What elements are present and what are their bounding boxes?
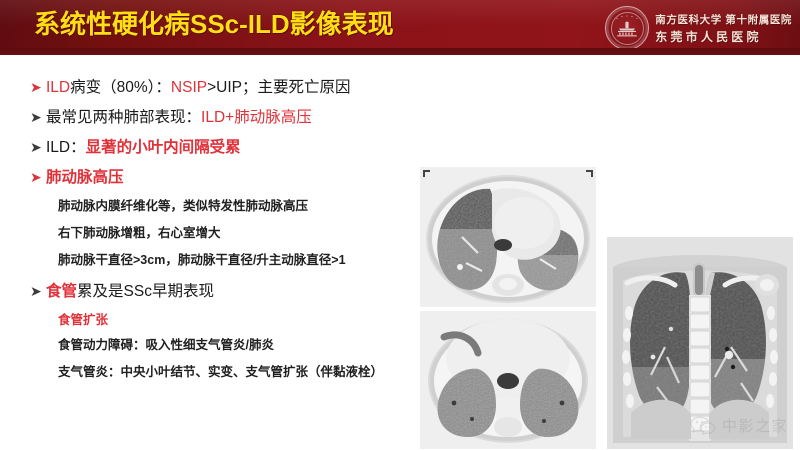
- hospital-logo: 南方医科大学 第十附属医院 东莞市人民医院: [605, 5, 792, 51]
- chest-ct-axial-lower: [420, 311, 596, 449]
- banner-underline: [0, 48, 800, 55]
- seg-uip: >UIP；主要死亡原因: [207, 79, 350, 96]
- watermark-text: 中影之家: [722, 415, 788, 436]
- ct-axial-lower-render: [420, 311, 596, 449]
- bullet-text: 食管累及是SSc早期表现: [46, 281, 214, 302]
- esophagus-subline-1: 食管动力障碍：吸入性细支气管炎/肺炎: [58, 336, 430, 354]
- hospital-name: 东莞市人民医院: [655, 28, 792, 45]
- esophageal-dilation-heading: 食管扩张: [58, 311, 430, 329]
- ct-axial-upper-render: [420, 167, 596, 307]
- seg-septal: 显著的小叶内间隔受累: [86, 139, 241, 156]
- seg-lesion: 病变（80%）：: [70, 79, 171, 96]
- slide-header-banner: 系统性硬化病SSc-ILD影像表现: [0, 0, 800, 55]
- bullet-text: 最常见两种肺部表现：ILD+肺动脉高压: [46, 107, 312, 128]
- esophagus-subline-2: 支气管炎：中央小叶结节、实变、支气管扩张（伴黏液栓）: [58, 363, 430, 381]
- pah-subline-3: 肺动脉干直径>3cm，肺动脉干直径/升主动脉直径>1: [58, 251, 430, 269]
- seg-nsip: NSIP: [171, 79, 207, 96]
- bullet-ild-septal: ➤ ILD：显著的小叶内间隔受累: [30, 137, 430, 158]
- emblem-arc-stars: [612, 14, 642, 21]
- pah-subline-2: 右下肺动脉增粗，右心室增大: [58, 224, 430, 242]
- bullet-text: ILD病变（80%）：NSIP>UIP；主要死亡原因: [46, 77, 351, 98]
- seg-esophagus: 食管: [46, 283, 77, 300]
- page-title: 系统性硬化病SSc-ILD影像表现: [34, 7, 394, 41]
- bullet-arrow-icon: ➤: [30, 281, 46, 302]
- text-content-column: ➤ ILD病变（80%）：NSIP>UIP；主要死亡原因 ➤ 最常见两种肺部表现…: [30, 77, 430, 390]
- bullet-arrow-icon: ➤: [30, 137, 46, 158]
- bullet-two-lung-manifestations: ➤ 最常见两种肺部表现：ILD+肺动脉高压: [30, 107, 430, 128]
- university-emblem-icon: [605, 6, 649, 50]
- slide-body: ➤ ILD病变（80%）：NSIP>UIP；主要死亡原因 ➤ 最常见两种肺部表现…: [0, 55, 800, 450]
- seg-ild-label: ILD：: [46, 139, 86, 156]
- wechat-icon: [690, 416, 716, 436]
- seg-prefix: 最常见两种肺部表现：: [46, 109, 201, 126]
- watermark: 中影之家: [690, 415, 788, 436]
- bullet-text: ILD：显著的小叶内间隔受累: [46, 137, 241, 158]
- bullet-arrow-icon: ➤: [30, 77, 46, 98]
- bullet-ild-lesion: ➤ ILD病变（80%）：NSIP>UIP；主要死亡原因: [30, 77, 430, 98]
- university-name: 南方医科大学 第十附属医院: [655, 12, 792, 27]
- hospital-name-block: 南方医科大学 第十附属医院 东莞市人民医院: [655, 12, 792, 45]
- seg-early-ssc: 累及是SSc早期表现: [77, 283, 214, 300]
- seg-ild-pah: ILD+肺动脉高压: [201, 109, 312, 126]
- bullet-arrow-icon: ➤: [30, 107, 46, 128]
- emblem-building-icon: [614, 21, 640, 36]
- bullet-esophageal-involvement: ➤ 食管累及是SSc早期表现: [30, 281, 430, 302]
- bullet-arrow-icon: ➤: [30, 167, 46, 188]
- bullet-text: 肺动脉高压: [46, 167, 124, 188]
- pah-subline-1: 肺动脉内膜纤维化等，类似特发性肺动脉高压: [58, 197, 430, 215]
- seg-pah: 肺动脉高压: [46, 169, 124, 186]
- chest-ct-axial-upper: [420, 167, 596, 307]
- seg-ild: ILD: [46, 79, 70, 96]
- bullet-pulmonary-hypertension: ➤ 肺动脉高压: [30, 167, 430, 188]
